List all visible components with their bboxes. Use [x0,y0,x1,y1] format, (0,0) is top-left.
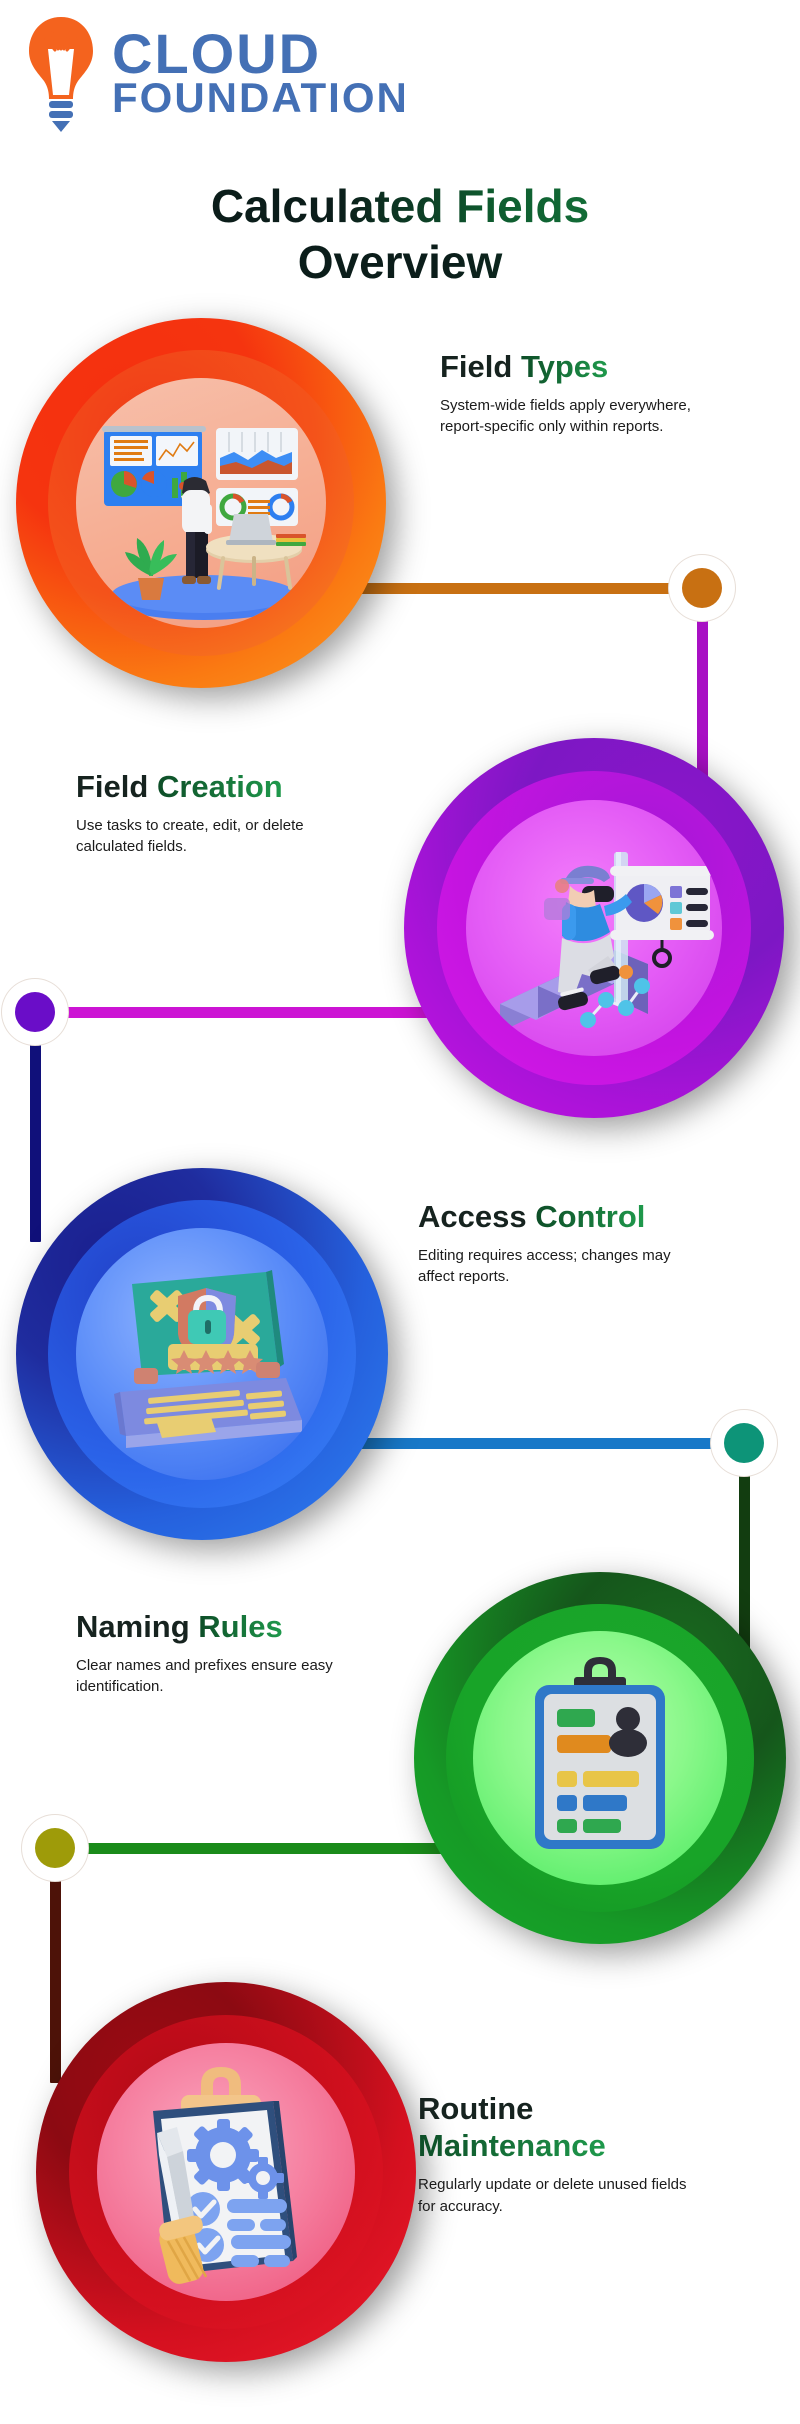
page-title: Calculated Fields Overview [0,178,800,290]
step-2-body: Use tasks to create, edit, or delete cal… [76,815,366,858]
step-circle-2 [404,738,784,1118]
step-4-heading-accent: Rules [198,1609,282,1644]
laptop-lock-security-illustration [76,1228,328,1480]
step-3-text: Access Control Editing requires access; … [418,1198,718,1288]
step-3-heading-dark: Access [418,1199,535,1234]
infographic-page: CLOUD FOUNDATION Calculated Fields Overv… [0,0,800,2424]
connector-node-3 [724,1423,764,1463]
step-5-body: Regularly update or delete unused fields… [418,2174,708,2217]
brand-line-1: CLOUD [112,28,409,80]
step-5-heading-dark: Routine [418,2091,533,2126]
connector-2-to-3-vertical [30,1012,41,1242]
step-3-heading-accent: Control [535,1199,645,1234]
connector-node-2 [15,992,55,1032]
analyst-presenting-charts-illustration [76,378,326,628]
step-1-text: Field Types System-wide fields apply eve… [440,348,740,438]
connector-node-4 [35,1828,75,1868]
step-circle-5 [36,1982,416,2362]
step-3-illustration [76,1228,328,1480]
clipboard-checklist-illustration [473,1631,727,1885]
brand-logo: CLOUD FOUNDATION [22,8,492,138]
step-1-heading: Field Types [440,348,740,385]
page-title-line-1: Calculated Fields [0,178,800,234]
step-2-illustration [466,800,722,1056]
step-5-illustration [97,2043,355,2301]
step-4-body: Clear names and prefixes ensure easy ide… [76,1655,366,1698]
step-2-heading-accent: Creation [157,769,283,804]
step-1-heading-accent: Types [521,349,608,384]
step-4-illustration [473,1631,727,1885]
brand-line-2: FOUNDATION [112,79,409,118]
step-5-text: Routine Maintenance Regularly update or … [418,2090,718,2217]
step-circle-3 [16,1168,388,1540]
connector-3-to-4-horizontal [330,1438,744,1449]
step-4-heading: Naming Rules [76,1608,376,1645]
page-title-line-2: Overview [0,234,800,290]
title-dark-part: Calculated [211,180,456,232]
connector-1-to-2-horizontal [330,583,702,594]
step-5-heading-accent: Maintenance [418,2128,606,2163]
step-1-body: System-wide fields apply everywhere, rep… [440,395,730,438]
step-3-heading: Access Control [418,1198,718,1235]
step-4-text: Naming Rules Clear names and prefixes en… [76,1608,376,1698]
vr-person-climbing-stairs-illustration [466,800,722,1056]
step-3-body: Editing requires access; changes may aff… [418,1245,708,1288]
step-4-heading-dark: Naming [76,1609,198,1644]
step-2-heading-dark: Field [76,769,157,804]
step-5-heading: Routine Maintenance [418,2090,718,2164]
step-1-illustration [76,378,326,628]
step-2-heading: Field Creation [76,768,376,805]
title-accent-part: Fields [456,180,589,232]
step-circle-1 [16,318,386,688]
step-1-heading-dark: Field [440,349,521,384]
clipboard-gear-screwdriver-illustration [97,2043,355,2301]
connector-4-to-5-horizontal [50,1843,450,1854]
connector-node-1 [682,568,722,608]
step-2-text: Field Creation Use tasks to create, edit… [76,768,376,858]
lightbulb-icon [22,13,100,133]
step-circle-4 [414,1572,786,1944]
connector-2-to-3-horizontal [30,1007,450,1018]
connector-4-to-5-vertical [50,1848,61,2083]
